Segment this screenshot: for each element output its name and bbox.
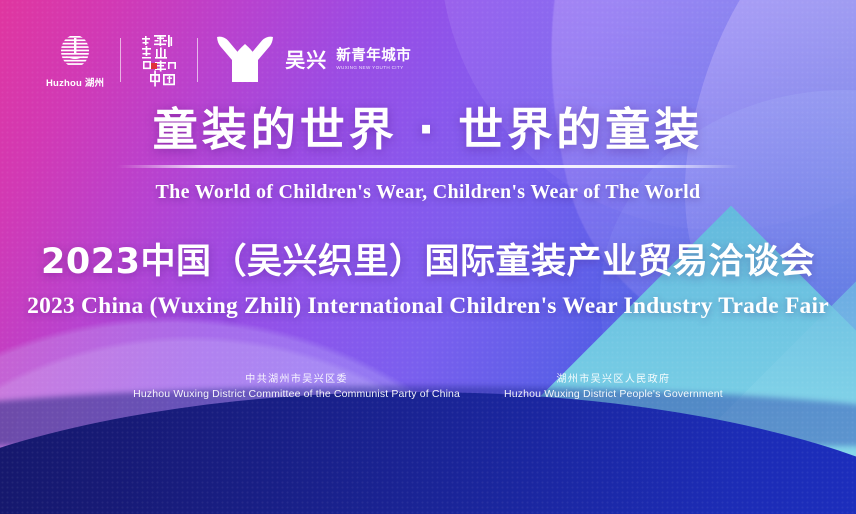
main-content: 童装的世界 · 世界的童装 The World of Children's We… xyxy=(0,0,856,320)
organizer-item: 湖州市吴兴区人民政府 Huzhou Wuxing District People… xyxy=(504,372,723,403)
organizer-name-en: Huzhou Wuxing District People's Governme… xyxy=(504,387,723,403)
event-title-cn: 2023中国（吴兴织里）国际童装产业贸易洽谈会 xyxy=(41,233,815,284)
organizer-name-en: Huzhou Wuxing District Committee of the … xyxy=(133,387,460,403)
event-banner: Huzhou 湖州 xyxy=(0,0,856,514)
headline-divider xyxy=(117,165,739,168)
headline-cn: 童装的世界 · 世界的童装 xyxy=(153,104,703,156)
headline-en: The World of Children's Wear, Children's… xyxy=(156,181,701,204)
organizer-list: 中共湖州市吴兴区委 Huzhou Wuxing District Committ… xyxy=(0,372,856,403)
organizer-name-cn: 湖州市吴兴区人民政府 xyxy=(556,372,670,387)
organizer-name-cn: 中共湖州市吴兴区委 xyxy=(245,372,348,387)
navy-wave xyxy=(0,392,856,514)
pale-arc-inner xyxy=(0,300,630,514)
organizer-item: 中共湖州市吴兴区委 Huzhou Wuxing District Committ… xyxy=(133,372,460,403)
event-title-en: 2023 China (Wuxing Zhili) International … xyxy=(27,293,829,320)
